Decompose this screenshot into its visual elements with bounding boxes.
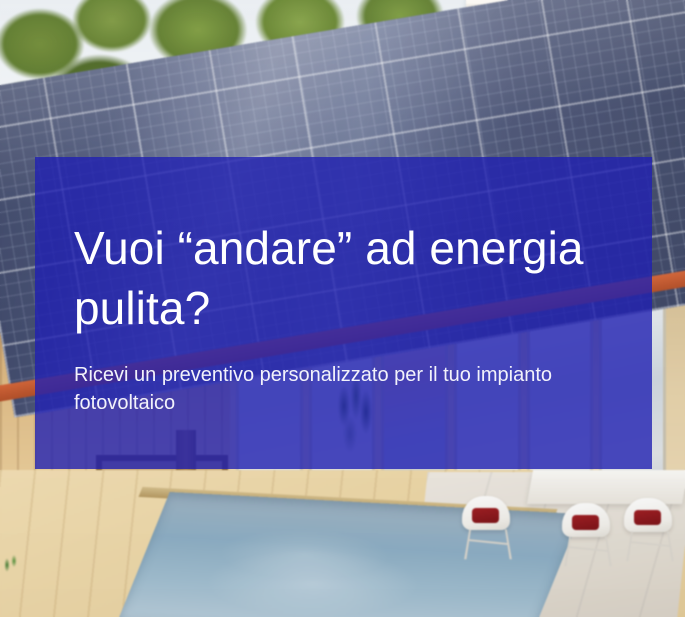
small-plant [2,553,20,575]
hero-title: Vuoi “andare” ad energia pulita? [74,219,612,339]
chair-cushion [472,508,499,523]
chair-legs [564,536,612,566]
chair-legs [626,531,674,561]
chair-cushion [572,515,599,530]
swimming-pool [119,492,581,617]
patio-chair [462,496,510,558]
hero-banner: Vuoi “andare” ad energia pulita? Ricevi … [0,0,685,617]
chair-cushion [634,510,661,525]
hero-subtitle: Ricevi un preventivo personalizzato per … [74,361,579,418]
patio-chair [562,503,610,565]
patio-chair [624,498,672,560]
chair-legs [464,529,512,559]
hero-overlay-card: Vuoi “andare” ad energia pulita? Ricevi … [35,157,652,469]
